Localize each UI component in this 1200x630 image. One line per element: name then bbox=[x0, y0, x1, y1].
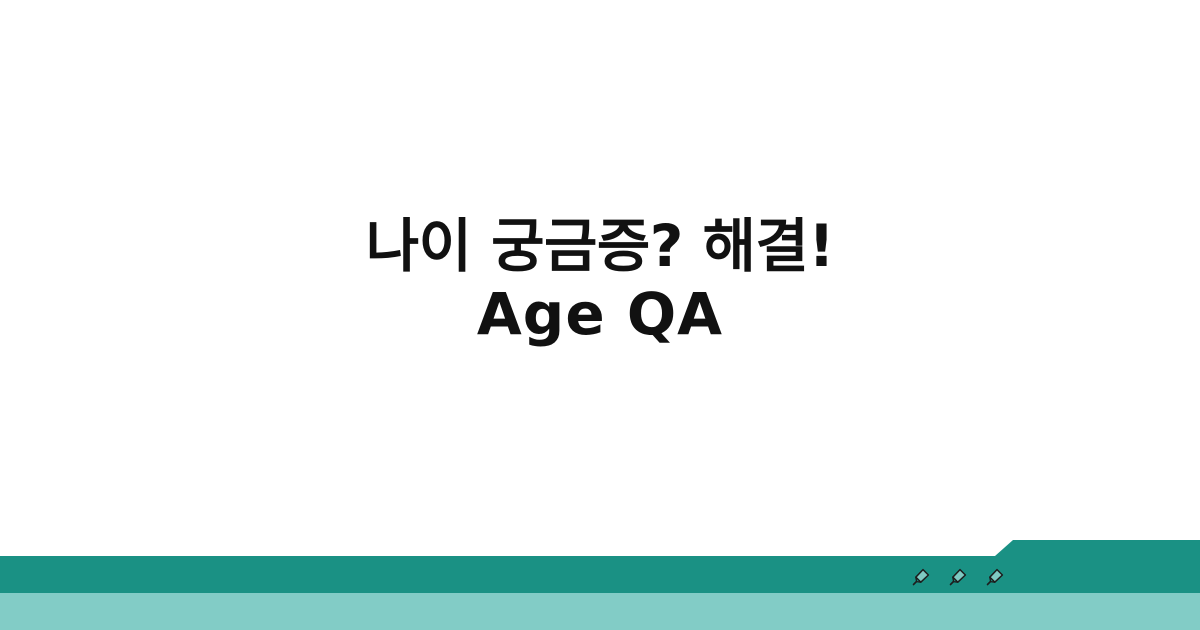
pushpin-row bbox=[908, 562, 1008, 592]
footer-under-band bbox=[0, 593, 1200, 630]
pushpin-icon bbox=[945, 564, 971, 590]
pushpin-icon bbox=[982, 564, 1008, 590]
footer-decoration bbox=[0, 535, 1200, 630]
title-line-primary: 나이 궁금증? 해결! bbox=[366, 212, 835, 280]
footer-main-band bbox=[0, 540, 1200, 593]
thumbnail-card: 나이 궁금증? 해결! Age QA bbox=[0, 0, 1200, 630]
pushpin-icon bbox=[908, 564, 934, 590]
title-line-secondary: Age QA bbox=[477, 280, 723, 348]
